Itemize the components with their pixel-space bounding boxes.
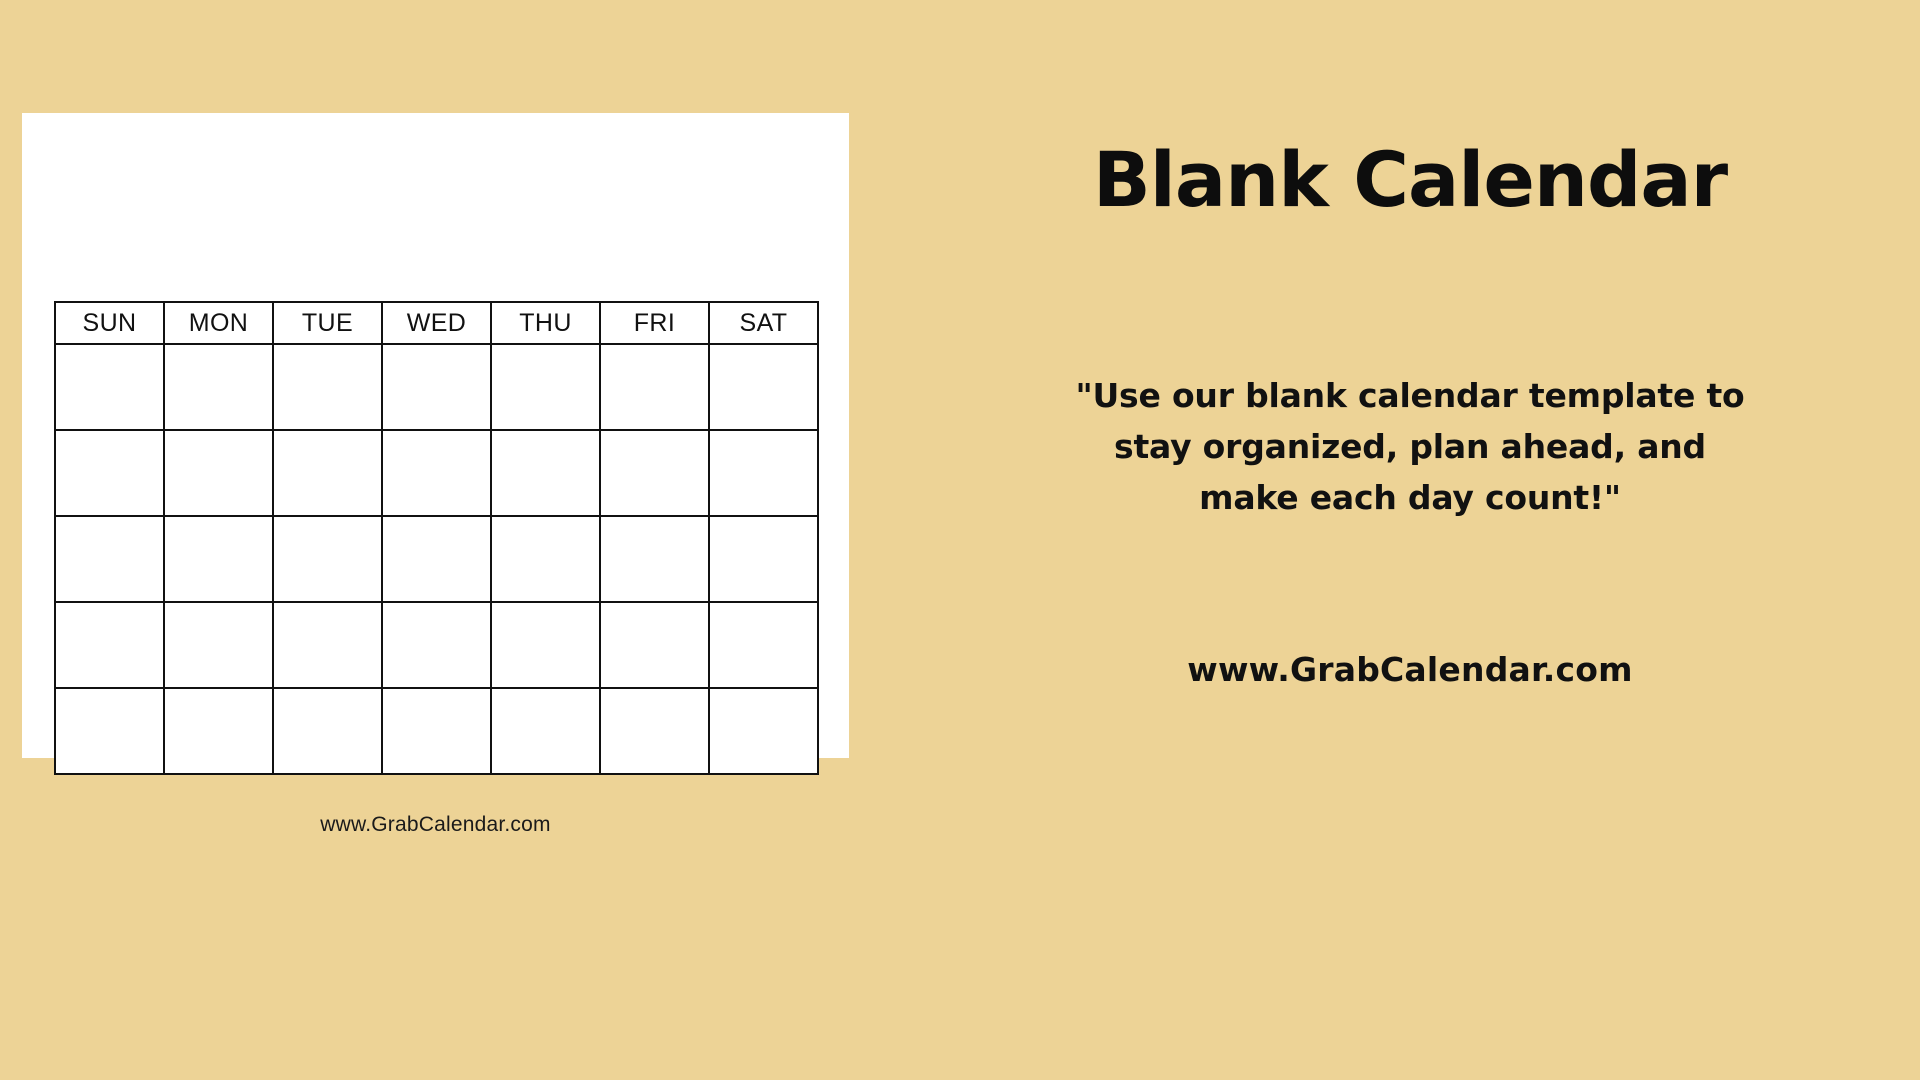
right-text-panel: Blank Calendar "Use our blank calendar t…	[900, 0, 1920, 1080]
calendar-week-row	[55, 430, 818, 516]
day-cell[interactable]	[164, 602, 273, 688]
calendar-card: SUN MON TUE WED THU FRI SAT	[22, 113, 849, 758]
day-cell[interactable]	[709, 344, 818, 430]
day-cell[interactable]	[164, 688, 273, 774]
promo-quote-line-2: stay organized, plan ahead, and	[910, 421, 1910, 472]
promo-quote: "Use our blank calendar template to stay…	[910, 370, 1910, 523]
day-cell[interactable]	[382, 344, 491, 430]
weekday-header-mon: MON	[164, 302, 273, 344]
poster-canvas: SUN MON TUE WED THU FRI SAT	[0, 0, 1920, 1080]
day-cell[interactable]	[164, 516, 273, 602]
calendar-week-row	[55, 516, 818, 602]
day-cell[interactable]	[164, 344, 273, 430]
calendar-week-row	[55, 688, 818, 774]
day-cell[interactable]	[164, 430, 273, 516]
day-cell[interactable]	[709, 430, 818, 516]
day-cell[interactable]	[709, 516, 818, 602]
calendar-body	[55, 344, 818, 774]
page-title: Blank Calendar	[900, 140, 1920, 220]
day-cell[interactable]	[273, 344, 382, 430]
day-cell[interactable]	[491, 688, 600, 774]
day-cell[interactable]	[600, 516, 709, 602]
weekday-header-thu: THU	[491, 302, 600, 344]
weekday-header-sun: SUN	[55, 302, 164, 344]
day-cell[interactable]	[600, 344, 709, 430]
day-cell[interactable]	[491, 344, 600, 430]
day-cell[interactable]	[600, 688, 709, 774]
day-cell[interactable]	[55, 516, 164, 602]
calendar-header-row-group: SUN MON TUE WED THU FRI SAT	[55, 302, 818, 344]
calendar-week-row	[55, 344, 818, 430]
weekday-header-wed: WED	[382, 302, 491, 344]
calendar-card-footer-url: www.GrabCalendar.com	[22, 813, 849, 837]
day-cell[interactable]	[273, 430, 382, 516]
day-cell[interactable]	[55, 344, 164, 430]
day-cell[interactable]	[491, 602, 600, 688]
day-cell[interactable]	[382, 516, 491, 602]
day-cell[interactable]	[273, 602, 382, 688]
day-cell[interactable]	[55, 688, 164, 774]
day-cell[interactable]	[382, 430, 491, 516]
day-cell[interactable]	[491, 430, 600, 516]
weekday-header-fri: FRI	[600, 302, 709, 344]
day-cell[interactable]	[709, 602, 818, 688]
day-cell[interactable]	[709, 688, 818, 774]
day-cell[interactable]	[600, 602, 709, 688]
calendar-grid: SUN MON TUE WED THU FRI SAT	[54, 301, 819, 775]
day-cell[interactable]	[491, 516, 600, 602]
day-cell[interactable]	[273, 516, 382, 602]
calendar-week-row	[55, 602, 818, 688]
day-cell[interactable]	[600, 430, 709, 516]
day-cell[interactable]	[55, 602, 164, 688]
day-cell[interactable]	[55, 430, 164, 516]
promo-quote-line-3: make each day count!"	[910, 472, 1910, 523]
weekday-header-tue: TUE	[273, 302, 382, 344]
weekday-header-sat: SAT	[709, 302, 818, 344]
weekday-header-row: SUN MON TUE WED THU FRI SAT	[55, 302, 818, 344]
promo-quote-line-1: "Use our blank calendar template to	[910, 370, 1910, 421]
day-cell[interactable]	[273, 688, 382, 774]
day-cell[interactable]	[382, 602, 491, 688]
day-cell[interactable]	[382, 688, 491, 774]
website-url: www.GrabCalendar.com	[900, 650, 1920, 689]
calendar-grid-wrapper: SUN MON TUE WED THU FRI SAT	[54, 301, 817, 775]
